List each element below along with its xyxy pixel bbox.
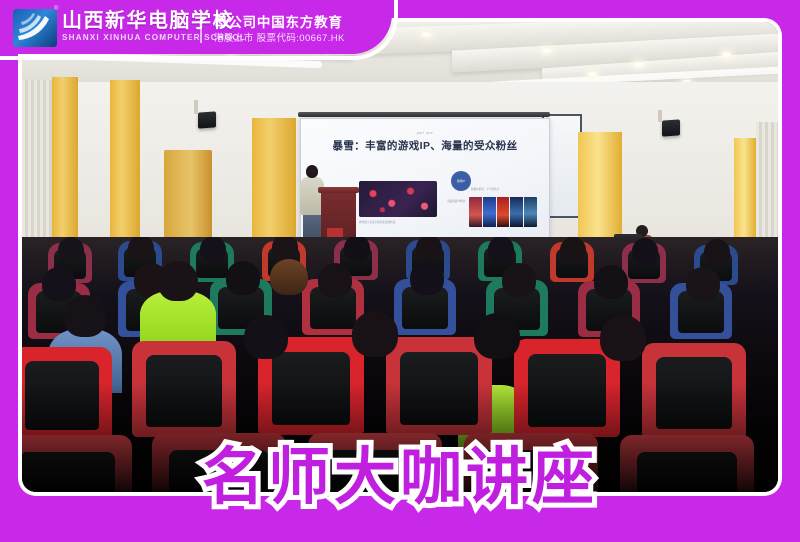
audience-head: [226, 261, 260, 295]
audience-head: [58, 237, 84, 263]
poster-canvas: part one 暴雪：丰富的游戏IP、海量的受众粉丝 暴雪旗下多款全球知名游戏…: [0, 0, 800, 542]
downlight-6: [588, 72, 597, 77]
slide-title: 暴雪：丰富的游戏IP、海量的受众粉丝: [332, 138, 517, 153]
slide-caption-left: 暴雪旗下多款全球知名游戏作品: [359, 220, 395, 224]
audience-head-brown: [270, 259, 308, 295]
audience-head: [128, 237, 154, 261]
registered-mark: ®: [54, 6, 58, 12]
slide-caption-right: 海量的受众粉丝: [447, 199, 465, 203]
audience-head: [344, 237, 370, 261]
speaker-mount-left: [194, 100, 198, 114]
audience-head: [474, 313, 520, 359]
wall-speaker-right-icon: [662, 119, 680, 136]
swoosh-logo-icon: [13, 9, 57, 47]
audience-head: [244, 315, 288, 359]
banner-divider: [200, 11, 202, 43]
speaker-mount-right: [658, 110, 662, 122]
presenter-head: [306, 165, 318, 178]
photo-frame: part one 暴雪：丰富的游戏IP、海量的受众粉丝 暴雪旗下多款全球知名游戏…: [22, 22, 778, 492]
downlight-7: [634, 62, 643, 67]
audience-head: [686, 267, 720, 301]
screen-rail: [298, 112, 550, 117]
wall-speaker-left-icon: [198, 111, 216, 128]
podium-top: [318, 187, 359, 193]
slide-eyebrow: part one: [417, 131, 434, 135]
audience-head: [318, 263, 352, 297]
audience-head: [410, 261, 444, 295]
downlight-4: [422, 32, 431, 37]
audience-head: [502, 263, 536, 297]
slide-badge-circle: 游戏IP: [451, 171, 471, 191]
audience-head: [352, 311, 398, 357]
audience-head: [594, 265, 628, 299]
slide-poster-row: [469, 197, 537, 227]
listing-info-label: 港股上市 股票代码:00667.HK: [214, 30, 345, 44]
audience-head: [158, 261, 198, 301]
slide-poster-1: [469, 197, 482, 227]
downlight-9: [722, 52, 731, 57]
audience-head: [42, 267, 76, 301]
audience-head: [632, 238, 658, 264]
audience-head: [272, 237, 298, 260]
audience-head: [560, 237, 586, 263]
lecture-hall-photo: part one 暴雪：丰富的游戏IP、海量的受众粉丝 暴雪旗下多款全球知名游戏…: [22, 22, 778, 492]
poster-headline: 名师大咖讲座: [0, 442, 800, 514]
slide-poster-3: [497, 197, 510, 227]
audience-head: [704, 239, 730, 265]
audience-head: [600, 315, 646, 361]
slide-poster-2: [483, 197, 496, 227]
school-name-cn: 山西新华电脑学校: [62, 10, 234, 32]
brand-banner: ® 山西新华电脑学校 SHANXI XINHUA COMPUTER SCHOOL…: [0, 0, 392, 54]
slide-badge-label: 游戏IP: [451, 171, 471, 191]
slide-image-games: [359, 181, 437, 217]
parent-company-label: 母公司中国东方教育: [214, 11, 343, 31]
slide-poster-row-label: 经典IP系列 · 人气角色卡: [471, 187, 499, 191]
slide-poster-5: [524, 197, 537, 227]
audience-head: [200, 237, 226, 262]
downlight-5: [542, 48, 551, 53]
audience-head: [488, 237, 514, 262]
slide-poster-4: [510, 197, 523, 227]
audience-head: [64, 295, 106, 337]
audience-head: [416, 237, 442, 261]
